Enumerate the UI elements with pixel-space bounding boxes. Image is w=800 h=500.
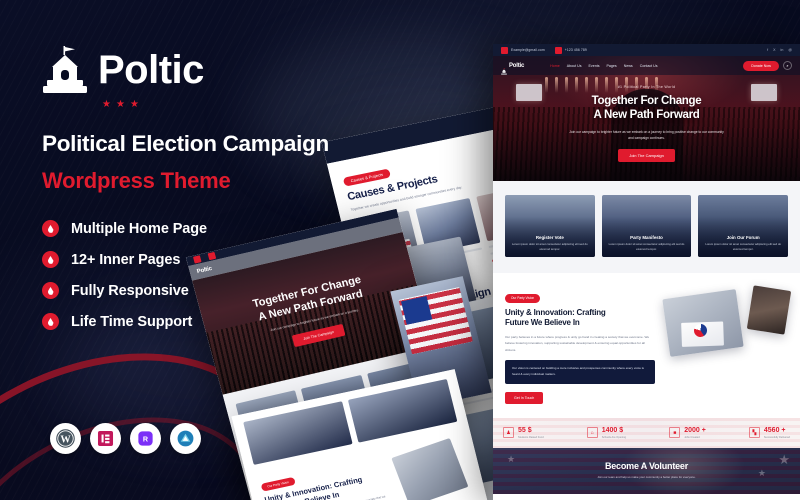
stat-label: Jobs Created (684, 436, 706, 439)
envelope-photo (662, 289, 743, 357)
wordpress-badge: W (50, 423, 81, 454)
drop-icon (42, 220, 59, 237)
drop-icon (42, 251, 59, 268)
feature-list: Multiple Home Page 12+ Inner Pages Fully… (42, 220, 372, 330)
stat-value: 2000 + (684, 427, 706, 434)
star-icon: ★ (130, 100, 139, 110)
card-title: Register Vote (509, 235, 591, 240)
section-badge: Our Party Vision (505, 294, 540, 303)
donate-now-button[interactable]: Donate Now (743, 61, 779, 71)
unity-title-line2: Future We Believe In (505, 318, 655, 329)
nav-item-contact-us[interactable]: Contact Us (640, 64, 658, 68)
card-description: Lorem ipsum dolor sit amet consectetur a… (509, 242, 591, 252)
site-navbar: Poltic Home About Us Events Pages News C… (493, 56, 800, 75)
unity-media (664, 286, 788, 404)
brand-stars: ★ ★ ★ (102, 100, 372, 110)
site-preview: Example@gmail.com +123 456 789 f X in @ (493, 44, 800, 500)
star-icon: ★ (102, 100, 111, 110)
card-title: Join Our Forum (702, 235, 784, 240)
star-icon: ★ (116, 100, 125, 110)
twitter-x-icon[interactable]: X (773, 48, 775, 52)
star-icon: ★ (758, 468, 766, 479)
stat-item: ⌂ 1400 $ Schools Are Opening (587, 427, 626, 439)
home-icon: ⌂ (587, 427, 598, 438)
card-party-manifesto[interactable]: Party Manifesto Lorem ipsum dolor sit am… (602, 195, 692, 257)
nav-item-news[interactable]: News (624, 64, 633, 68)
drop-icon (42, 282, 59, 299)
hero-title-line2: A New Path Forward (493, 108, 800, 122)
hero-eyebrow: #1 Political Party In The World (493, 85, 800, 89)
nav-logo-label: Poltic (509, 63, 524, 69)
stat-label: Schools Are Opening (602, 436, 626, 439)
stats-section: ♟ 55 $ Students Raised Fund ⌂ 1400 $ Sch… (493, 418, 800, 448)
secondary-photo (747, 285, 791, 334)
hero-content: #1 Political Party In The World Together… (493, 75, 800, 162)
topbar-email[interactable]: Example@gmail.com (501, 47, 545, 54)
nav-menu: Home About Us Events Pages News Contact … (550, 64, 657, 68)
instagram-icon[interactable]: @ (788, 48, 792, 52)
stat-item: ■ 2000 + Jobs Created (669, 427, 706, 439)
brand-name: Poltic (98, 50, 204, 90)
feature-label: 12+ Inner Pages (71, 252, 180, 268)
drop-icon (42, 313, 59, 330)
volunteer-section: ★ ★ ★ Become A Volunteer Join our team a… (493, 448, 800, 494)
technology-badges: W R (50, 423, 201, 454)
nav-actions: Donate Now ⌕ (743, 61, 792, 71)
stat-value: 4560 + (764, 427, 790, 434)
star-icon: ★ (778, 452, 790, 468)
briefcase-icon: ■ (669, 427, 680, 438)
envelope-photo (391, 438, 468, 500)
svg-text:W: W (60, 434, 71, 445)
capitol-building-icon (42, 46, 88, 94)
capitol-building-icon (501, 62, 507, 69)
stat-value: 55 $ (518, 427, 544, 434)
card-title: Party Manifesto (606, 235, 688, 240)
page-title: Political Election Campaign (42, 130, 372, 157)
unity-description: Our party believes in a future where pro… (505, 334, 655, 353)
get-in-touch-button[interactable]: Get In Touch (505, 392, 543, 404)
nav-item-events[interactable]: Events (589, 64, 600, 68)
hero-title-line1: Together For Change (493, 94, 800, 108)
nav-logo[interactable]: Poltic (501, 62, 524, 69)
stat-label: Students Raised Fund (518, 436, 544, 439)
stat-item: ♟ 55 $ Students Raised Fund (503, 427, 544, 439)
svg-text:R: R (143, 436, 148, 444)
nav-item-home[interactable]: Home (550, 64, 560, 68)
feature-label: Life Time Support (71, 314, 192, 330)
unity-section: Our Party Vision Unity & Innovation: Cra… (493, 273, 800, 418)
stat-value: 1400 $ (602, 427, 626, 434)
topbar-phone[interactable]: +123 456 789 (555, 47, 587, 54)
slider-revolution-badge: R (130, 423, 161, 454)
feature-label: Multiple Home Page (71, 221, 207, 237)
volunteer-description: Join our team and help us make your comm… (572, 475, 722, 481)
list-item: Fully Responsive (42, 282, 372, 299)
social-links: f X in @ (767, 48, 792, 52)
facebook-icon[interactable]: f (767, 48, 768, 52)
list-item: Multiple Home Page (42, 220, 372, 237)
hero-cta-button[interactable]: Join The Campaign (618, 149, 675, 162)
unity-content: Our Party Vision Unity & Innovation: Cra… (505, 286, 655, 404)
card-join-our-forum[interactable]: Join Our Forum Lorem ipsum dolor sit ame… (698, 195, 788, 257)
card-description: Lorem ipsum dolor sit amet consectetur a… (606, 242, 688, 252)
site-topbar: Example@gmail.com +123 456 789 f X in @ (493, 44, 800, 56)
feature-cards: Register Vote Lorem ipsum dolor sit amet… (493, 181, 800, 273)
tilted-unity-media (392, 434, 479, 500)
star-icon: ★ (507, 454, 515, 465)
page-subtitle: Wordpress Theme (42, 168, 372, 194)
user-icon: ♟ (503, 427, 514, 438)
unity-title-line1: Unity & Innovation: Crafting (505, 308, 655, 319)
card-register-vote[interactable]: Register Vote Lorem ipsum dolor sit amet… (505, 195, 595, 257)
search-icon[interactable]: ⌕ (783, 61, 792, 70)
chart-icon: ▚ (749, 427, 760, 438)
brand-logo: Poltic (42, 46, 372, 94)
card-description: Lorem ipsum dolor sit amet consectetur a… (702, 242, 784, 252)
phone-icon (555, 47, 562, 54)
elementor-badge (90, 423, 121, 454)
nav-item-about-us[interactable]: About Us (567, 64, 582, 68)
list-item: 12+ Inner Pages (42, 251, 372, 268)
promo-panel: Poltic ★ ★ ★ Political Election Campaign… (42, 46, 372, 330)
feature-label: Fully Responsive (71, 283, 189, 299)
mail-icon (501, 47, 508, 54)
preview-stage: Poltic ★ ★ ★ Political Election Campaign… (0, 0, 800, 500)
envato-badge (170, 423, 201, 454)
volunteer-title: Become A Volunteer (605, 461, 688, 471)
stat-label: Successfully Delivered (764, 436, 790, 439)
nav-item-pages[interactable]: Pages (607, 64, 617, 68)
stat-item: ▚ 4560 + Successfully Delivered (749, 427, 790, 439)
hero-description: Join our campaign to brighter future as … (569, 129, 724, 142)
list-item: Life Time Support (42, 313, 372, 330)
linkedin-icon[interactable]: in (781, 48, 784, 52)
unity-quote: Our vision is centered on building a mor… (505, 360, 655, 384)
